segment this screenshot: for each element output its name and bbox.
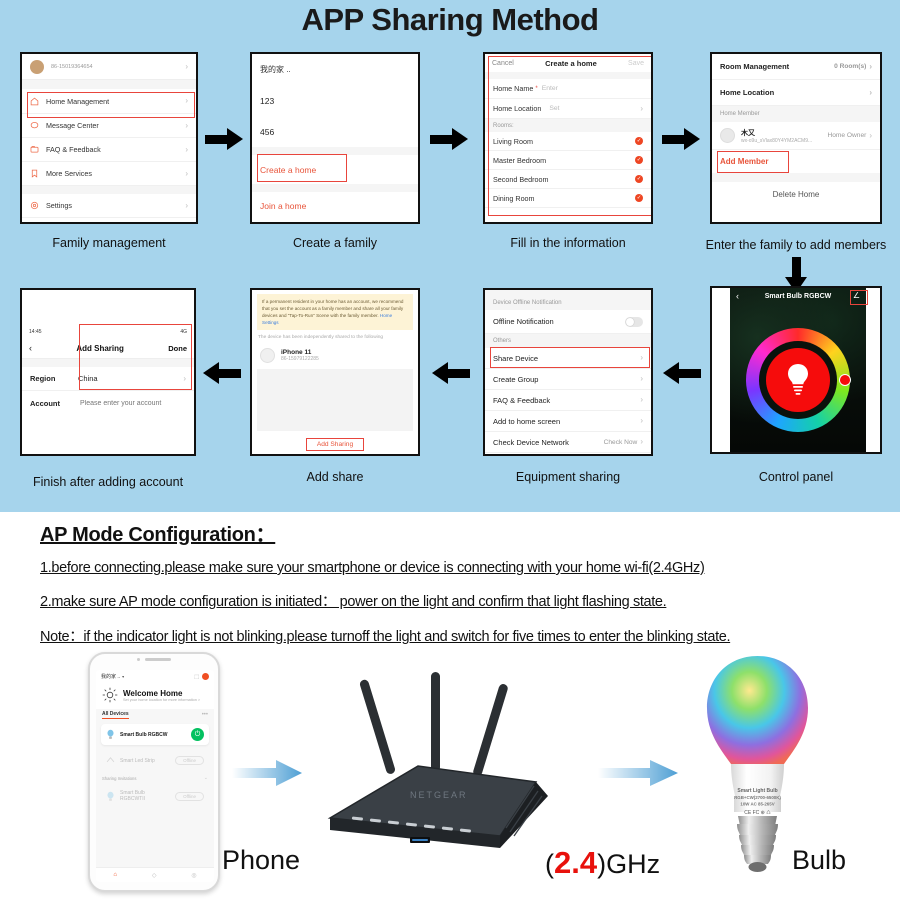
- chevron-right-icon: ›: [185, 63, 188, 71]
- flow-arrow-left: [203, 362, 241, 384]
- add-member-button[interactable]: Add Member: [712, 150, 880, 173]
- wifi-router: NETGEAR: [300, 670, 550, 860]
- device-power-toggle[interactable]: ⏻: [191, 728, 204, 741]
- bulb-print-line1: Smart Light Bulb: [737, 788, 777, 794]
- check-now-label[interactable]: Check Now: [604, 439, 638, 446]
- chevron-right-icon: ›: [183, 375, 186, 383]
- welcome-title: Welcome Home: [123, 689, 200, 698]
- phone-mockup[interactable]: 我的家 .. ▾ ⬚ Welcome Home: [88, 652, 220, 892]
- sidebar-item-label: More Services: [46, 169, 185, 178]
- home-icon: [30, 97, 39, 106]
- create-a-home-label: Create a home: [260, 165, 410, 175]
- faq-icon: [30, 145, 39, 154]
- flow-arrow-left: [432, 362, 470, 384]
- member-role: Home Owner: [827, 132, 866, 139]
- faq-feedback-row[interactable]: FAQ & Feedback ›: [485, 390, 651, 411]
- flow-arrow-right: [205, 128, 243, 150]
- home-list-label: 123: [260, 96, 410, 106]
- ghz-prefix: (: [545, 849, 554, 879]
- sidebar-item-label: FAQ & Feedback: [46, 145, 185, 154]
- home-member-section-header: Home Member: [712, 106, 880, 122]
- avatar: [260, 348, 275, 363]
- device-name: Smart Bulb RGBCWTII: [120, 790, 170, 802]
- bulb-icon: [106, 729, 115, 740]
- ap-mode-line-1: 1.before connecting.please make sure you…: [40, 560, 704, 576]
- check-icon[interactable]: ✓: [635, 175, 643, 183]
- home-list-label: 我的家 ..: [260, 64, 410, 75]
- step-card-control-panel[interactable]: ‹ Smart Bulb RGBCW ∠: [710, 286, 882, 454]
- sidebar-item-label: Message Center: [46, 121, 185, 130]
- account-label: Account: [30, 399, 78, 408]
- welcome-subtitle[interactable]: Set your home location for more informat…: [123, 698, 200, 702]
- ghz-value: 2.4: [554, 845, 597, 880]
- home-location-value[interactable]: Set: [549, 105, 640, 112]
- flow-arrow-right: [662, 128, 700, 150]
- offline-section-header: Device Offline Notification: [485, 296, 651, 310]
- ap-mode-title: AP Mode Configuration：: [40, 518, 275, 547]
- nav-home-icon[interactable]: ⌂: [113, 872, 117, 878]
- chevron-right-icon: ›: [640, 396, 643, 404]
- sidebar-item-label: Settings: [46, 201, 185, 210]
- phone-label: Phone: [222, 845, 300, 876]
- step-card-enter-the-family-to-add-members[interactable]: Room Management 0 Room(s) › Home Locatio…: [710, 52, 882, 224]
- cancel-button[interactable]: Cancel: [492, 60, 514, 67]
- ap-mode-section: AP Mode Configuration： 1.before connecti…: [40, 518, 870, 660]
- step-caption-family-management: Family management: [20, 236, 198, 250]
- create-group-row[interactable]: Create Group ›: [485, 369, 651, 390]
- device-card-smart-bulb[interactable]: Smart Bulb RGBCW ⏻: [101, 724, 209, 745]
- delete-home-button[interactable]: Delete Home: [712, 182, 880, 206]
- region-row[interactable]: Region China ›: [22, 367, 194, 391]
- others-section-header: Others: [485, 334, 651, 348]
- bottom-nav[interactable]: ⌂ ◇ ◎: [96, 867, 214, 882]
- dialog-title: Create a home: [514, 59, 628, 68]
- home-location-field[interactable]: Home Location Set ›: [485, 99, 651, 119]
- gear-icon: [30, 201, 39, 210]
- sidebar-item-message-center[interactable]: Message Center ›: [22, 114, 196, 138]
- status-network: 4G: [180, 329, 187, 335]
- color-wheel-handle[interactable]: [839, 374, 851, 386]
- room-label: Dining Room: [493, 194, 635, 203]
- room-item[interactable]: Master Bedroom ✓: [485, 151, 651, 170]
- chevron-right-icon: ›: [640, 105, 643, 113]
- home-list-item[interactable]: 我的家 ..: [252, 54, 418, 85]
- check-device-network-label: Check Device Network: [493, 438, 604, 447]
- chevron-right-icon: ›: [185, 122, 188, 130]
- member-row[interactable]: 木又 wx-o9u_sVlax80Y4YM2ACM9... Home Owner…: [712, 122, 880, 150]
- add-device-icon[interactable]: [202, 673, 209, 680]
- chevron-right-icon: ›: [869, 132, 872, 140]
- step-caption-enter-the-family-to-add-members: Enter the family to add members: [690, 238, 900, 252]
- shared-device-name: iPhone 11: [281, 349, 410, 356]
- bulb-icon: [785, 363, 811, 397]
- phone-screen: 我的家 .. ▾ ⬚ Welcome Home: [96, 670, 214, 882]
- app-home-header[interactable]: 我的家 .. ▾ ⬚: [96, 670, 214, 683]
- step-card-fill-in-the-information[interactable]: Cancel Create a home Save Home Name * En…: [483, 52, 653, 224]
- join-a-home-label: Join a home: [260, 201, 410, 211]
- ap-mode-line-2: 2.make sure AP mode configuration is ini…: [40, 590, 666, 611]
- add-to-home-screen-label: Add to home screen: [493, 417, 640, 426]
- bulb-certification-marks: CE FC ⊕ ♺: [744, 810, 771, 816]
- message-icon: [30, 121, 39, 130]
- sidebar-item-more-services[interactable]: More Services ›: [22, 162, 196, 186]
- step-card-family-management[interactable]: 86-15019364654 › Home Management › Messa…: [20, 52, 198, 224]
- step-caption-finish-after-adding-account: Finish after adding account: [8, 475, 208, 489]
- home-location-row[interactable]: Home Location ›: [712, 80, 880, 106]
- device-offline-badge: Offline: [175, 792, 204, 801]
- offline-notification-label: Offline Notification: [493, 317, 625, 326]
- bookmark-icon: [30, 169, 39, 178]
- step-caption-equipment-sharing: Equipment sharing: [483, 470, 653, 484]
- scan-icon[interactable]: ⬚: [194, 674, 199, 680]
- share-device-label: Share Device: [493, 354, 640, 363]
- bulb-print-line3: 10W AC 85-265V: [740, 802, 774, 807]
- chevron-right-icon: ›: [185, 146, 188, 154]
- connection-diagram: 我的家 .. ▾ ⬚ Welcome Home: [0, 648, 900, 900]
- step-card-create-a-family[interactable]: 我的家 .. 123 456 Create a home Join a home: [250, 52, 420, 224]
- member-name: 木又: [741, 128, 827, 138]
- room-item[interactable]: Living Room ✓: [485, 132, 651, 151]
- chevron-right-icon: ›: [185, 97, 188, 105]
- room-item[interactable]: Dining Room ✓: [485, 189, 651, 208]
- required-asterisk: *: [535, 86, 537, 92]
- chevron-down-icon[interactable]: ⌄: [204, 775, 208, 781]
- done-button[interactable]: Done: [168, 344, 187, 353]
- home-name-selector[interactable]: 我的家 ..: [101, 673, 120, 680]
- device-card-smart-led-strip[interactable]: Smart Led Strip Offline: [101, 751, 209, 770]
- device-title: Smart Bulb RGBCW: [730, 293, 866, 300]
- room-count: 0 Room(s): [834, 63, 866, 70]
- room-management-label: Room Management: [720, 62, 834, 71]
- led-strip-icon: [106, 755, 115, 766]
- faq-feedback-label: FAQ & Feedback: [493, 396, 640, 405]
- region-value[interactable]: China: [78, 374, 183, 383]
- chevron-right-icon: ›: [640, 354, 643, 362]
- step-caption-control-panel: Control panel: [710, 470, 882, 484]
- home-location-label: Home Location: [720, 88, 869, 97]
- check-icon[interactable]: ✓: [635, 137, 643, 145]
- step-card-equipment-sharing[interactable]: Device Offline Notification Offline Noti…: [483, 288, 653, 456]
- nav-profile-icon[interactable]: ◎: [191, 872, 196, 879]
- frequency-label: (2.4)GHz: [545, 845, 660, 881]
- home-name-field[interactable]: Home Name * Enter: [485, 79, 651, 99]
- sharing-invitations-header: Sharing Invitations: [102, 776, 136, 781]
- device-name: Smart Bulb RGBCW: [120, 732, 186, 738]
- delete-home-label: Delete Home: [773, 190, 820, 199]
- member-id: wx-o9u_sVlax80Y4YM2ACM9...: [741, 138, 827, 144]
- more-options-icon[interactable]: •••: [202, 712, 208, 718]
- room-label: Master Bedroom: [493, 156, 635, 165]
- offline-notification-toggle[interactable]: [625, 317, 643, 327]
- notice-box: If a permanent resident in your home has…: [257, 294, 413, 330]
- check-icon[interactable]: ✓: [635, 194, 643, 202]
- room-label: Second Bedroom: [493, 175, 635, 184]
- account-phone: 86-15019364654: [51, 64, 185, 70]
- page-title: Add Sharing: [32, 344, 168, 353]
- chevron-right-icon: ›: [185, 170, 188, 178]
- device-card-shared-bulb[interactable]: Smart Bulb RGBCWTII Offline: [101, 786, 209, 806]
- shared-device-phone: 86-15979122285: [281, 356, 410, 362]
- create-group-label: Create Group: [493, 375, 640, 384]
- nav-smart-icon[interactable]: ◇: [152, 872, 157, 879]
- add-sharing-button[interactable]: Add Sharing: [306, 438, 364, 451]
- bulb-print-line2: RGB+CW(2700-6500K): [734, 795, 781, 800]
- save-button[interactable]: Save: [628, 60, 644, 67]
- svg-text:NETGEAR: NETGEAR: [410, 790, 468, 800]
- ghz-suffix: )GHz: [597, 849, 660, 879]
- home-name-label: Home Name: [493, 84, 533, 93]
- sidebar-item-faq-feedback[interactable]: FAQ & Feedback ›: [22, 138, 196, 162]
- sidebar-item-label: Home Management: [46, 97, 185, 106]
- chevron-right-icon: ›: [185, 202, 188, 210]
- home-list-item[interactable]: 456: [252, 116, 418, 147]
- step-card-add-share[interactable]: If a permanent resident in your home has…: [250, 288, 420, 456]
- chevron-down-icon[interactable]: ▾: [122, 674, 124, 679]
- step-caption-add-share: Add share: [250, 470, 420, 484]
- chevron-right-icon: ›: [869, 89, 872, 97]
- signal-arrow-router-to-bulb: [598, 758, 678, 788]
- account-row[interactable]: Account: [22, 391, 194, 415]
- edit-pen-icon[interactable]: ∠: [853, 292, 860, 300]
- avatar: [30, 60, 44, 74]
- join-a-home-button[interactable]: Join a home: [252, 192, 418, 219]
- weather-sun-icon: [102, 687, 118, 703]
- device-offline-badge: Offline: [175, 756, 204, 765]
- flow-arrow-left: [663, 362, 701, 384]
- bulb-label: Bulb: [792, 845, 846, 876]
- chevron-right-icon: ›: [640, 375, 643, 383]
- avatar: [720, 128, 735, 143]
- all-devices-tab[interactable]: All Devices: [102, 711, 129, 719]
- bulb-preview: [766, 348, 830, 412]
- add-to-home-screen-row[interactable]: Add to home screen ›: [485, 411, 651, 432]
- sharing-method-section: APP Sharing Method 86-15019364654 › Home…: [0, 0, 900, 512]
- chevron-right-icon: ›: [869, 63, 872, 71]
- home-name-input[interactable]: Enter: [542, 85, 558, 92]
- check-device-network-row[interactable]: Check Device Network Check Now ›: [485, 432, 651, 453]
- status-time: 14:45: [29, 329, 42, 335]
- sidebar-item-settings[interactable]: Settings ›: [22, 194, 196, 218]
- check-icon[interactable]: ✓: [635, 156, 643, 164]
- create-a-home-button[interactable]: Create a home: [252, 155, 418, 184]
- signal-arrow-phone-to-router: [232, 758, 302, 788]
- home-location-label: Home Location: [493, 104, 541, 113]
- shared-device-row[interactable]: iPhone 11 86-15979122285: [252, 343, 418, 367]
- sidebar-item-home-management[interactable]: Home Management ›: [22, 89, 196, 114]
- room-management-row[interactable]: Room Management 0 Room(s) ›: [712, 54, 880, 80]
- offline-notification-row[interactable]: Offline Notification: [485, 310, 651, 334]
- home-list-label: 456: [260, 127, 410, 137]
- bulb-icon: [106, 791, 115, 802]
- chevron-right-icon: ›: [640, 417, 643, 425]
- chevron-right-icon: ›: [640, 438, 643, 446]
- region-label: Region: [30, 374, 78, 383]
- smart-bulb-product: Smart Light Bulb RGB+CW(2700-6500K) 10W …: [700, 652, 815, 877]
- device-name: Smart Led Strip: [120, 758, 170, 764]
- room-item[interactable]: Second Bedroom ✓: [485, 170, 651, 189]
- step-card-finish-after-adding-account[interactable]: 14:45 4G ‹ Add Sharing Done Region China…: [20, 288, 196, 456]
- ap-mode-note: Note：if the indicator light is not blink…: [40, 625, 730, 646]
- flow-arrow-right: [430, 128, 468, 150]
- add-member-label: Add Member: [720, 157, 872, 166]
- share-device-row[interactable]: Share Device ›: [485, 348, 651, 369]
- rooms-section-header: Rooms:: [485, 119, 651, 132]
- step-caption-fill-in-the-information: Fill in the information: [483, 236, 653, 250]
- welcome-banner: Welcome Home Set your home location for …: [96, 683, 214, 709]
- phone-speaker: [90, 658, 218, 661]
- shared-devices-header: The device has been independently shared…: [252, 330, 418, 343]
- home-list-item[interactable]: 123: [252, 85, 418, 116]
- room-label: Living Room: [493, 137, 635, 146]
- page-title: APP Sharing Method: [0, 2, 900, 38]
- account-input[interactable]: [78, 399, 186, 408]
- step-caption-create-a-family: Create a family: [250, 236, 420, 250]
